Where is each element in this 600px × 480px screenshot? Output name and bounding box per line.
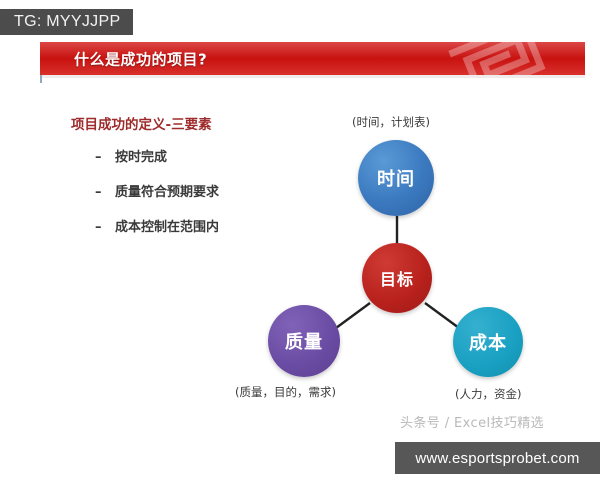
tg-handle-badge: TG: MYYJJPP <box>0 9 133 35</box>
source-watermark: 头条号 / Excel技巧精选 <box>400 412 544 431</box>
bullet-dash-icon: – <box>95 150 104 165</box>
node-time-caption: (时间，计划表) <box>352 114 430 130</box>
list-item: – 按时完成 <box>95 146 219 165</box>
node-cost: 成本 <box>453 307 523 377</box>
node-goal: 目标 <box>362 243 432 313</box>
list-item: – 成本控制在范围内 <box>95 216 219 235</box>
title-banner: 什么是成功的项目? <box>40 42 585 75</box>
section-heading: 项目成功的定义-三要素 <box>71 113 212 133</box>
page-title: 什么是成功的项目? <box>74 48 207 69</box>
node-quality-label: 质量 <box>285 328 323 354</box>
node-time-label: 时间 <box>377 165 415 191</box>
url-text: www.esportsprobet.com <box>415 450 579 467</box>
banner-tick-mark <box>40 75 42 83</box>
spiral-maze-logo-icon <box>439 42 559 75</box>
node-goal-label: 目标 <box>380 266 414 290</box>
banner-underline <box>40 75 585 78</box>
bullet-text: 按时完成 <box>115 146 167 165</box>
node-quality-caption: (质量，目的，需求) <box>235 384 336 400</box>
bullet-dash-icon: – <box>95 220 104 235</box>
node-cost-caption: (人力，资金) <box>455 386 521 402</box>
tg-handle-text: TG: MYYJJPP <box>14 13 120 31</box>
bullet-text: 成本控制在范围内 <box>115 216 219 235</box>
node-cost-label: 成本 <box>469 329 507 355</box>
bullet-text: 质量符合预期要求 <box>115 181 219 200</box>
list-item: – 质量符合预期要求 <box>95 181 219 200</box>
node-time: 时间 <box>358 140 434 216</box>
slide-canvas: TG: MYYJJPP 什么是成功的项目? 项目成功的定义-三要素 – 按时完成… <box>0 0 600 480</box>
url-bar: www.esportsprobet.com <box>395 442 600 474</box>
three-constraints-diagram: 时间 (时间，计划表) 目标 质量 (质量，目的，需求) 成本 (人力，资金) <box>240 100 600 410</box>
node-quality: 质量 <box>268 305 340 377</box>
bullet-dash-icon: – <box>95 185 104 200</box>
definition-bullet-list: – 按时完成 – 质量符合预期要求 – 成本控制在范围内 <box>95 146 219 251</box>
